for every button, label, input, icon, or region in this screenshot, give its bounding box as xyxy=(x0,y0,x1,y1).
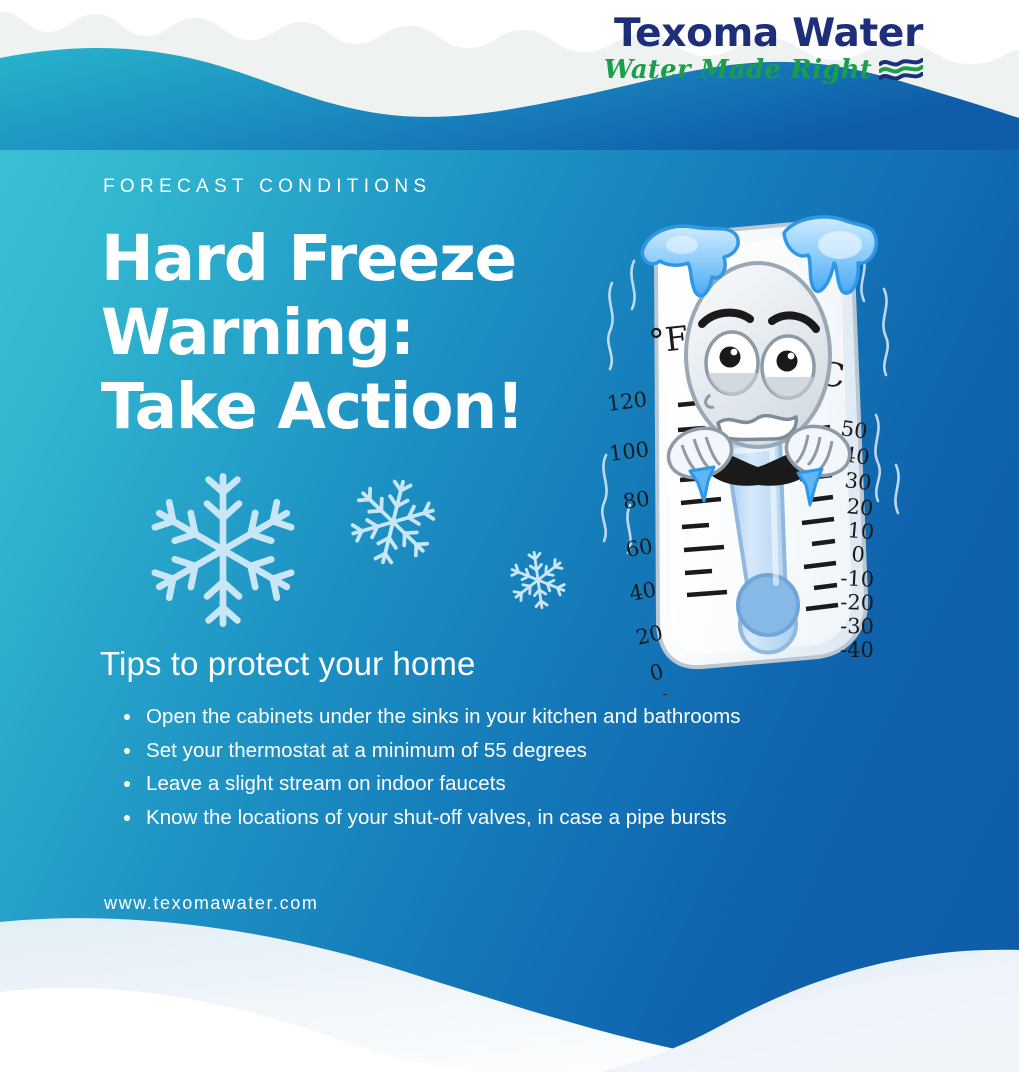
svg-text:80: 80 xyxy=(621,486,651,513)
svg-text:-40: -40 xyxy=(840,638,874,662)
svg-text:120: 120 xyxy=(606,387,649,416)
tip-text: Know the locations of your shut-off valv… xyxy=(146,806,727,829)
svg-text:30: 30 xyxy=(843,468,872,495)
wave-icon xyxy=(879,57,923,83)
brand-logo: Texoma Water Water Made Right xyxy=(604,14,923,83)
svg-text:60: 60 xyxy=(624,534,654,562)
thermometer-mascot-illustration: °F 120 100 80 60 40 20 0 -20 xyxy=(590,205,920,695)
svg-text:40: 40 xyxy=(627,577,658,606)
headline-line-1: Hard Freeze xyxy=(101,222,621,296)
tip-text: Open the cabinets under the sinks in you… xyxy=(146,705,741,728)
logo-wordmark: Texoma Water xyxy=(604,14,923,53)
svg-text:100: 100 xyxy=(608,437,651,466)
freeze-warning-poster: Texoma Water Water Made Right FORECAST C… xyxy=(0,0,1019,1072)
svg-text:-20: -20 xyxy=(840,590,875,615)
bullet-icon xyxy=(124,781,130,787)
list-item: Open the cabinets under the sinks in you… xyxy=(120,700,910,734)
bullet-icon xyxy=(124,748,130,754)
svg-text:0: 0 xyxy=(851,542,866,567)
list-item: Know the locations of your shut-off valv… xyxy=(120,801,910,835)
headline-line-3: Take Action! xyxy=(101,370,621,444)
page-title: Hard Freeze Warning: Take Action! xyxy=(101,222,621,444)
svg-text:-10: -10 xyxy=(840,566,875,592)
logo-tagline: Water Made Right xyxy=(604,57,872,83)
snowflake-large-icon xyxy=(143,470,303,630)
tips-list: Open the cabinets under the sinks in you… xyxy=(120,700,910,834)
bottom-snowdrift-decoration xyxy=(0,882,1019,1072)
svg-text:-30: -30 xyxy=(840,614,874,639)
tips-heading: Tips to protect your home xyxy=(100,645,475,683)
mascot-mouth xyxy=(718,416,796,440)
headline-line-2: Warning: xyxy=(101,296,621,370)
svg-text:20: 20 xyxy=(845,494,874,521)
svg-text:-20: -20 xyxy=(636,689,675,695)
svg-text:10: 10 xyxy=(847,518,876,544)
list-item: Set your thermostat at a minimum of 55 d… xyxy=(120,734,910,768)
snowflake-medium-icon xyxy=(348,477,438,567)
eyebrow-text: FORECAST CONDITIONS xyxy=(103,176,431,198)
tip-text: Leave a slight stream on indoor faucets xyxy=(146,772,506,795)
svg-text:0: 0 xyxy=(647,659,666,686)
tip-text: Set your thermostat at a minimum of 55 d… xyxy=(146,739,587,762)
snowflake-small-icon xyxy=(507,549,569,611)
fahrenheit-label: °F xyxy=(647,318,690,361)
bullet-icon xyxy=(124,815,130,821)
list-item: Leave a slight stream on indoor faucets xyxy=(120,767,910,801)
bullet-icon xyxy=(124,714,130,720)
